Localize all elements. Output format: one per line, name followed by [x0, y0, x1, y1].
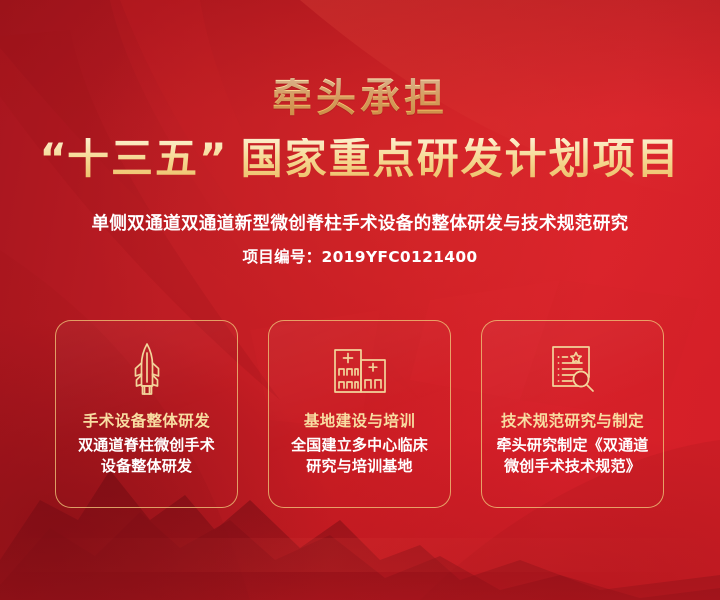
page-title-lead: 牵头承担 — [0, 78, 720, 118]
title-five-year-plan: 十三五 — [67, 134, 199, 183]
title-program-name: 国家重点研发计划项目 — [241, 134, 681, 183]
feature-card[interactable]: 基地建设与培训 全国建立多中心临床 研究与培训基地 — [268, 320, 451, 508]
card-desc-line-1: 牵头研究制定《双通道 — [496, 436, 648, 454]
hospital-building-icon — [331, 344, 389, 396]
card-title: 手术设备整体研发 — [56, 409, 237, 431]
card-icon-slot — [56, 341, 237, 399]
card-icon-slot — [482, 341, 663, 399]
certificate-search-icon — [546, 343, 600, 397]
poster-content: 牵头承担 “十三五”国家重点研发计划项目 单侧双通道双通道新型微创脊柱手术设备的… — [0, 0, 720, 600]
quote-open: “ — [39, 134, 67, 183]
card-description: 双通道脊柱微创手术 设备整体研发 — [64, 435, 229, 478]
card-icon-slot — [269, 341, 450, 399]
feature-card-list: 手术设备整体研发 双通道脊柱微创手术 设备整体研发 — [55, 320, 665, 510]
project-number: 项目编号：2019YFC0121400 — [0, 245, 720, 267]
card-desc-line-2: 设备整体研发 — [101, 457, 192, 475]
card-description: 全国建立多中心临床 研究与培训基地 — [277, 435, 442, 478]
quote-close: ” — [199, 134, 227, 183]
rocket-icon — [125, 341, 169, 399]
card-desc-line-2: 微创手术技术规范》 — [504, 457, 641, 475]
feature-card[interactable]: 手术设备整体研发 双通道脊柱微创手术 设备整体研发 — [55, 320, 238, 508]
card-desc-line-1: 双通道脊柱微创手术 — [78, 436, 215, 454]
card-title: 基地建设与培训 — [269, 409, 450, 431]
card-title: 技术规范研究与制定 — [482, 409, 663, 431]
card-desc-line-1: 全国建立多中心临床 — [291, 436, 428, 454]
poster-banner: 牵头承担 “十三五”国家重点研发计划项目 单侧双通道双通道新型微创脊柱手术设备的… — [0, 0, 720, 600]
card-description: 牵头研究制定《双通道 微创手术技术规范》 — [490, 435, 655, 478]
project-description: 单侧双通道双通道新型微创脊柱手术设备的整体研发与技术规范研究 — [0, 210, 720, 235]
page-title-main: “十三五”国家重点研发计划项目 — [0, 138, 720, 180]
feature-card[interactable]: 技术规范研究与制定 牵头研究制定《双通道 微创手术技术规范》 — [481, 320, 664, 508]
card-desc-line-2: 研究与培训基地 — [306, 457, 412, 475]
